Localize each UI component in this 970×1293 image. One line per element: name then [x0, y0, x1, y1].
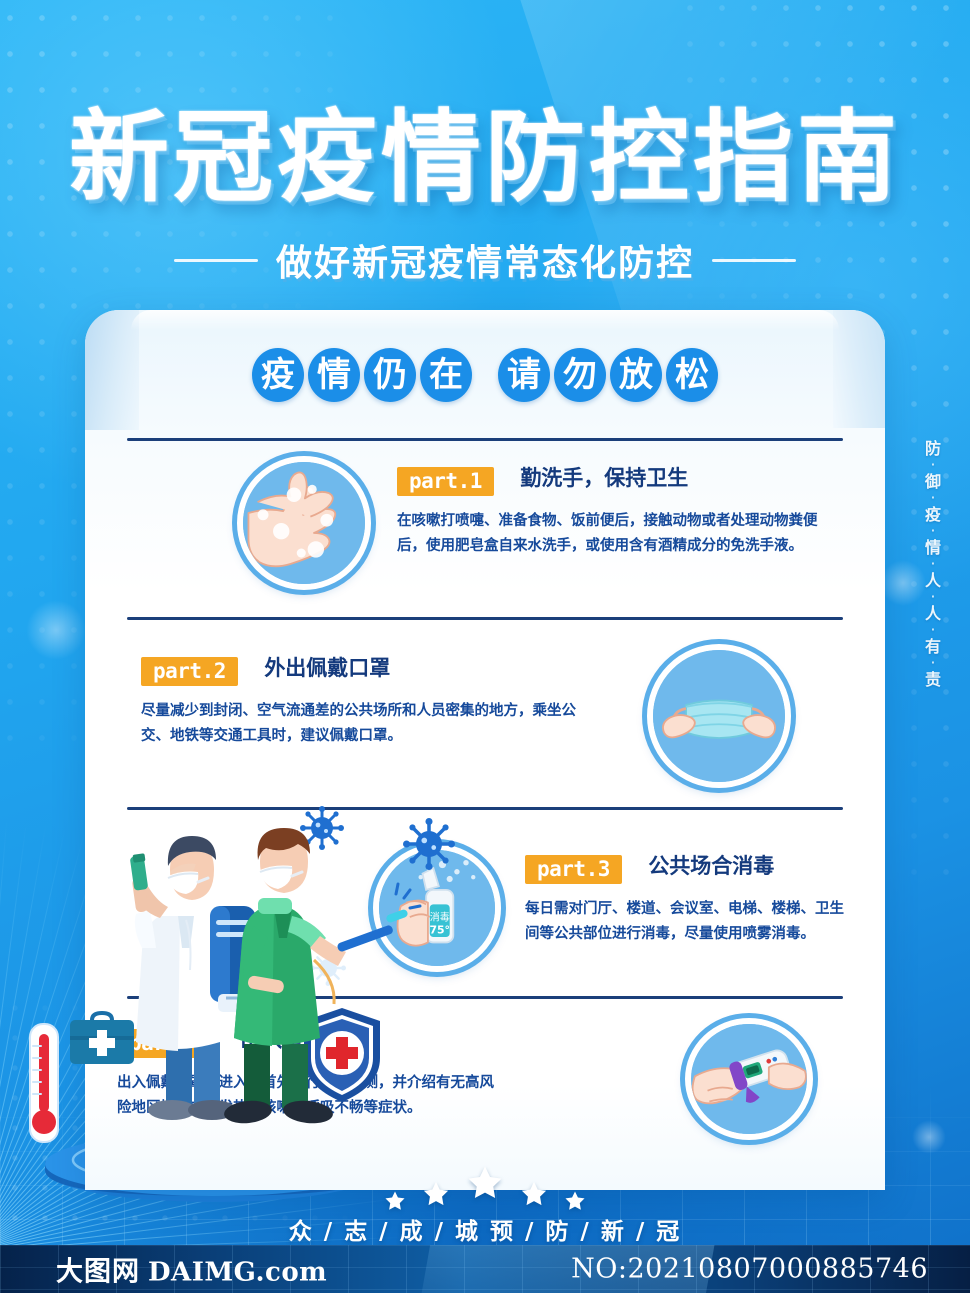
card-top-highlight	[131, 310, 839, 330]
headline-pill-5: 请	[498, 348, 550, 402]
background-glow-dot	[912, 1120, 946, 1154]
svg-text:75°: 75°	[429, 923, 450, 936]
part-2-body: 尽量减少到封闭、空气流通差的公共场所和人员密集的地方，乘坐公交、地铁等交通工具时…	[141, 699, 581, 749]
star-row	[85, 1168, 885, 1206]
subtitle-row: 做好新冠疫情常态化防控	[0, 234, 970, 286]
part-3: part.3 公共场合消毒 每日需对门厅、楼道、会议室、电梯、楼梯、卫生间等公共…	[525, 850, 855, 947]
page-title: 新冠疫情防控指南	[0, 108, 970, 208]
footer-watermark-bar: 大图网 DAIMG.com NO:20210807000885746	[0, 1245, 970, 1293]
side-dot: ·	[918, 459, 948, 471]
watermark-cn-label: 大图网	[56, 1250, 140, 1289]
part-1-badge: part.1	[397, 467, 494, 496]
part-1-body: 在咳嗽打喷嚏、准备食物、饭前便后，接触动物或者处理动物粪便后，使用肥皂盒自来水洗…	[397, 509, 837, 559]
subtitle-rule-left	[174, 259, 258, 262]
face-mask-icon	[647, 644, 791, 788]
side-dot: ·	[918, 624, 948, 636]
side-char: 人	[918, 603, 948, 624]
headline-pill-6: 勿	[554, 348, 606, 402]
side-char: 御	[918, 471, 948, 492]
part-2-title: 外出佩戴口罩	[264, 652, 390, 682]
thermometer-gun-icon	[685, 1018, 813, 1140]
divider-1	[127, 438, 843, 441]
svg-text:消毒: 消毒	[430, 911, 450, 924]
headline-pill-8: 松	[666, 348, 718, 402]
page-subtitle: 做好新冠疫情常态化防控	[276, 234, 694, 286]
vertical-side-slogan: 防·御·疫·情·人·人·有·责	[918, 438, 948, 690]
side-char: 情	[918, 537, 948, 558]
headline-pill-2: 情	[308, 348, 360, 402]
sanitation-worker-illustration	[196, 816, 426, 1136]
part-3-title: 公共场合消毒	[648, 850, 774, 880]
divider-3	[127, 807, 843, 810]
side-dot: ·	[918, 657, 948, 669]
star-icon	[520, 1180, 548, 1208]
side-dot: ·	[918, 591, 948, 603]
site-watermark: 大图网 DAIMG.com	[56, 1250, 327, 1289]
headline-pill-7: 放	[610, 348, 662, 402]
side-char: 有	[918, 636, 948, 657]
star-icon	[384, 1190, 406, 1212]
star-icon	[466, 1164, 504, 1202]
headline-pill-4: 在	[420, 348, 472, 402]
part-2: part.2 外出佩戴口罩 尽量减少到封闭、空气流通差的公共场所和人员密集的地方…	[141, 652, 581, 749]
part-3-badge: part.3	[525, 855, 622, 884]
handwash-icon	[237, 456, 371, 590]
part-1: part.1 勤洗手，保持卫生 在咳嗽打喷嚏、准备食物、饭前便后，接触动物或者处…	[397, 462, 837, 559]
part-2-badge: part.2	[141, 657, 238, 686]
star-icon	[564, 1190, 586, 1212]
side-char: 人	[918, 570, 948, 591]
side-dot: ·	[918, 558, 948, 570]
bottom-slogan: 众 / 志 / 成 / 城 预 / 防 / 新 / 冠	[0, 1212, 970, 1246]
headline-pill-3: 仍	[364, 348, 416, 402]
side-char: 责	[918, 669, 948, 690]
part-3-body: 每日需对门厅、楼道、会议室、电梯、楼梯、卫生间等公共部位进行消毒，尽量使用喷雾消…	[525, 897, 855, 947]
headline-pill-1: 疫	[252, 348, 304, 402]
divider-2	[127, 617, 843, 620]
card-headline: 疫情仍在请勿放松	[85, 348, 885, 402]
side-char: 疫	[918, 504, 948, 525]
watermark-en-label: DAIMG.com	[148, 1258, 327, 1288]
serial-number: NO:20210807000885746	[571, 1254, 928, 1285]
subtitle-rule-right	[712, 259, 796, 262]
part-1-title: 勤洗手，保持卫生	[520, 462, 688, 492]
thermometer-icon	[22, 1022, 66, 1144]
side-dot: ·	[918, 492, 948, 504]
star-icon	[422, 1180, 450, 1208]
side-char: 防	[918, 438, 948, 459]
poster-header: 新冠疫情防控指南 做好新冠疫情常态化防控	[0, 0, 970, 286]
card-headline-pills: 疫情仍在请勿放松	[252, 348, 718, 402]
side-dot: ·	[918, 525, 948, 537]
background-glow-dot	[26, 600, 86, 660]
